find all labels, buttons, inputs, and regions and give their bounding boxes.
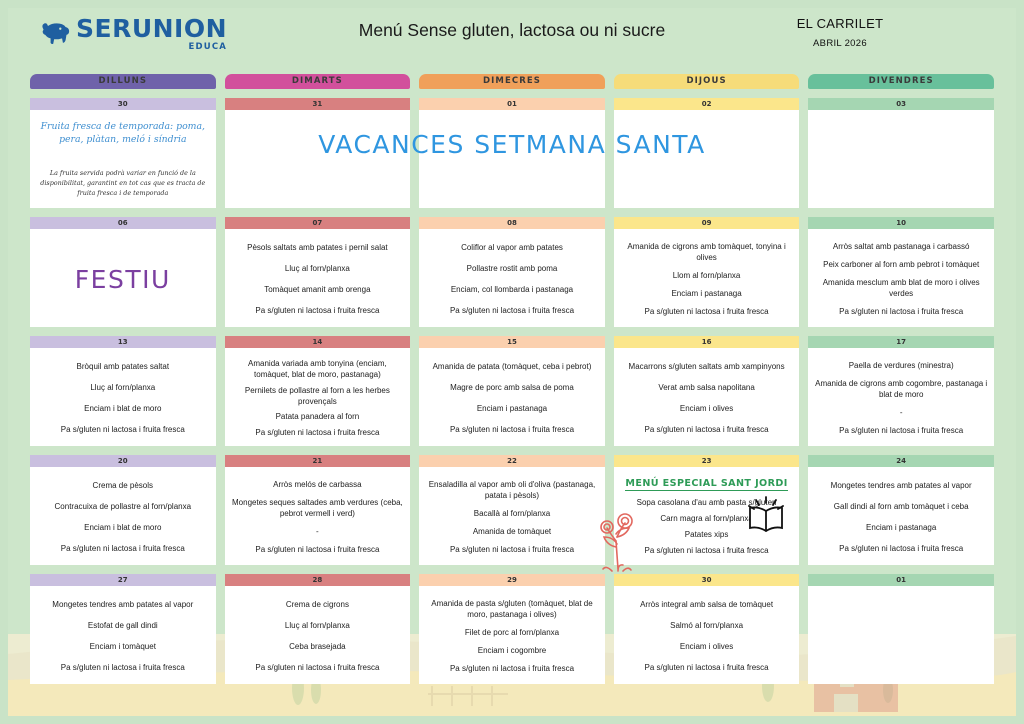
- menu-line: Lluç al forn/planxa: [36, 382, 210, 393]
- menu-line: Amanida variada amb tonyina (enciam, tom…: [231, 358, 405, 380]
- date-band-22: 22: [419, 455, 605, 467]
- weekday-header-dimarts: DIMARTS: [225, 74, 411, 89]
- fruit-note-detail: La fruita servida podrà variar en funció…: [36, 168, 210, 198]
- date-band-01: 01: [808, 574, 994, 586]
- menu-line: Pa s/gluten ni lactosa i fruita fresca: [36, 424, 210, 435]
- week-row: 13Bròquil amb patates saltatLluç al forn…: [30, 335, 994, 446]
- menu-line: Bacallà al forn/planxa: [425, 508, 599, 519]
- weekday-header-divendres: DIVENDRES: [808, 74, 994, 89]
- day-cell-06[interactable]: FESTIU: [30, 229, 216, 327]
- day-cell-20[interactable]: Crema de pèsolsContracuixa de pollastre …: [30, 467, 216, 565]
- date-band-06: 06: [30, 217, 216, 229]
- holiday-label: FESTIU: [36, 265, 210, 294]
- menu-line: Macarrons s/gluten saltats amb xampinyon…: [620, 361, 794, 372]
- menu-line: Gall dindi al forn amb tomàquet i ceba: [814, 501, 988, 512]
- menu-line: Pa s/gluten ni lactosa i fruita fresca: [814, 306, 988, 317]
- menu-line: Filet de porc al forn/planxa: [425, 627, 599, 638]
- date-band-17: 17: [808, 336, 994, 348]
- date-band-30: 30: [30, 98, 216, 110]
- day-cell-15[interactable]: Amanida de patata (tomàquet, ceba i pebr…: [419, 348, 605, 446]
- menu-line: Pernilets de pollastre al forn a les her…: [231, 385, 405, 407]
- day-cell-30[interactable]: Fruita fresca de temporada: poma, pera, …: [30, 110, 216, 208]
- menu-line: Tomàquet amanit amb orenga: [231, 284, 405, 295]
- special-menu-title: MENÚ ESPECIAL SANT JORDI: [625, 478, 787, 491]
- day-cell-16[interactable]: Macarrons s/gluten saltats amb xampinyon…: [614, 348, 800, 446]
- menu-line: Verat amb salsa napolitana: [620, 382, 794, 393]
- menu-line: Enciam, col llombarda i pastanaga: [425, 284, 599, 295]
- day-cell-22[interactable]: Ensaladilla al vapor amb oli d'oliva (pa…: [419, 467, 605, 565]
- menu-line: Ceba brasejada: [231, 641, 405, 652]
- menu-line: Pa s/gluten ni lactosa i fruita fresca: [231, 662, 405, 673]
- menu-line: Coliflor al vapor amb patates: [425, 242, 599, 253]
- menu-line: Pollastre rostit amb poma: [425, 263, 599, 274]
- date-band-27: 27: [30, 574, 216, 586]
- menu-line: Pa s/gluten ni lactosa i fruita fresca: [425, 544, 599, 555]
- menu-line: Pèsols saltats amb patates i pernil sala…: [231, 242, 405, 253]
- day-cell-21[interactable]: Arròs melós de carbassaMongetes seques s…: [225, 467, 411, 565]
- menu-line: Mongetes tendres amb patates al vapor: [814, 480, 988, 491]
- menu-line: Mongetes seques saltades amb verdures (c…: [231, 497, 405, 519]
- day-cell-10[interactable]: Arròs saltat amb pastanaga i carbassóPei…: [808, 229, 994, 327]
- poster-header: SERUNION EDUCA Menú Sense gluten, lactos…: [8, 8, 1016, 74]
- date-band-02: 02: [614, 98, 800, 110]
- day-cell-01[interactable]: [419, 110, 605, 208]
- week-row: 20Crema de pèsolsContracuixa de pollastr…: [30, 454, 994, 565]
- menu-line: Amanida de cigrons amb tomàquet, tonyina…: [620, 241, 794, 263]
- menu-line: -: [231, 526, 405, 537]
- menu-line: Crema de pèsols: [36, 480, 210, 491]
- date-band-16: 16: [614, 336, 800, 348]
- menu-line: Llom al forn/planxa: [620, 270, 794, 281]
- school-block: EL CARRILET ABRIL 2026: [730, 16, 950, 49]
- menu-line: Paella de verdures (minestra): [814, 360, 988, 371]
- menu-line: Pa s/gluten ni lactosa i fruita fresca: [231, 427, 405, 438]
- date-band-13: 13: [30, 336, 216, 348]
- vacation-banner: VACANCES SETMANA SANTA: [238, 130, 786, 159]
- menu-line: Enciam i pastanaga: [620, 288, 794, 299]
- menu-line: Enciam i olives: [620, 641, 794, 652]
- menu-line: Pa s/gluten ni lactosa i fruita fresca: [814, 543, 988, 554]
- menu-line: Pa s/gluten ni lactosa i fruita fresca: [620, 662, 794, 673]
- day-cell-09[interactable]: Amanida de cigrons amb tomàquet, tonyina…: [614, 229, 800, 327]
- fruit-note-main: Fruita fresca de temporada: poma, pera, …: [36, 120, 210, 146]
- weekday-header-dimecres: DIMECRES: [419, 74, 605, 89]
- menu-line: Enciam i olives: [620, 403, 794, 414]
- menu-line: Estofat de gall dindi: [36, 620, 210, 631]
- date-band-21: 21: [225, 455, 411, 467]
- date-band-10: 10: [808, 217, 994, 229]
- menu-line: Mongetes tendres amb patates al vapor: [36, 599, 210, 610]
- week-row: 06FESTIU07Pèsols saltats amb patates i p…: [30, 216, 994, 327]
- menu-line: Lluç al forn/planxa: [231, 263, 405, 274]
- date-band-07: 07: [225, 217, 411, 229]
- menu-line: Bròquil amb patates saltat: [36, 361, 210, 372]
- date-band-03: 03: [808, 98, 994, 110]
- date-band-15: 15: [419, 336, 605, 348]
- menu-poster: SERUNION EDUCA Menú Sense gluten, lactos…: [0, 0, 1024, 724]
- weekday-header-dijous: DIJOUS: [614, 74, 800, 89]
- school-name: EL CARRILET: [730, 16, 950, 31]
- date-band-30: 30: [614, 574, 800, 586]
- menu-calendar: DILLUNSDIMARTSDIMECRESDIJOUSDIVENDRES 30…: [8, 74, 1016, 684]
- menu-line: Pa s/gluten ni lactosa i fruita fresca: [425, 663, 599, 674]
- day-cell-01[interactable]: [808, 586, 994, 684]
- day-cell-30[interactable]: Arròs integral amb salsa de tomàquetSalm…: [614, 586, 800, 684]
- menu-line: Amanida de cigrons amb cogombre, pastana…: [814, 378, 988, 400]
- day-cell-28[interactable]: Crema de cigronsLluç al forn/planxaCeba …: [225, 586, 411, 684]
- day-cell-03[interactable]: [808, 110, 994, 208]
- date-band-14: 14: [225, 336, 411, 348]
- book-icon: [743, 495, 789, 535]
- menu-line: Amanida de pasta s/gluten (tomàquet, bla…: [425, 598, 599, 620]
- date-band-20: 20: [30, 455, 216, 467]
- date-band-29: 29: [419, 574, 605, 586]
- menu-line: Pa s/gluten ni lactosa i fruita fresca: [620, 545, 794, 556]
- day-cell-14[interactable]: Amanida variada amb tonyina (enciam, tom…: [225, 348, 411, 446]
- menu-line: Pa s/gluten ni lactosa i fruita fresca: [425, 305, 599, 316]
- logo-subtitle: EDUCA: [188, 43, 227, 52]
- date-band-08: 08: [419, 217, 605, 229]
- menu-line: Patata panadera al forn: [231, 411, 405, 422]
- menu-line: Pa s/gluten ni lactosa i fruita fresca: [620, 424, 794, 435]
- menu-line: Amanida de tomàquet: [425, 526, 599, 537]
- date-band-31: 31: [225, 98, 411, 110]
- menu-line: Arròs integral amb salsa de tomàquet: [620, 599, 794, 610]
- menu-line: Pa s/gluten ni lactosa i fruita fresca: [36, 543, 210, 554]
- menu-line: Pa s/gluten ni lactosa i fruita fresca: [425, 424, 599, 435]
- weekday-header-row: DILLUNSDIMARTSDIMECRESDIJOUSDIVENDRES: [30, 74, 994, 89]
- menu-line: Crema de cigrons: [231, 599, 405, 610]
- menu-line: Amanida mesclum amb blat de moro i olive…: [814, 277, 988, 299]
- menu-line: Enciam i tomàquet: [36, 641, 210, 652]
- day-cell-31[interactable]: [225, 110, 411, 208]
- menu-period: ABRIL 2026: [730, 38, 950, 49]
- menu-line: Pa s/gluten ni lactosa i fruita fresca: [231, 544, 405, 555]
- day-cell-07[interactable]: Pèsols saltats amb patates i pernil sala…: [225, 229, 411, 327]
- day-cell-02[interactable]: [614, 110, 800, 208]
- menu-line: Ensaladilla al vapor amb oli d'oliva (pa…: [425, 479, 599, 501]
- menu-line: Peix carboner al forn amb pebrot i tomàq…: [814, 259, 988, 270]
- menu-line: Enciam i cogombre: [425, 645, 599, 656]
- menu-line: Arròs melós de carbassa: [231, 479, 405, 490]
- day-cell-29[interactable]: Amanida de pasta s/gluten (tomàquet, bla…: [419, 586, 605, 684]
- day-cell-24[interactable]: Mongetes tendres amb patates al vaporGal…: [808, 467, 994, 565]
- rose-icon: [592, 507, 644, 573]
- date-band-01: 01: [419, 98, 605, 110]
- menu-line: Enciam i blat de moro: [36, 403, 210, 414]
- menu-line: Pa s/gluten ni lactosa i fruita fresca: [620, 306, 794, 317]
- menu-line: Magre de porc amb salsa de poma: [425, 382, 599, 393]
- weeks-container: 30Fruita fresca de temporada: poma, pera…: [30, 89, 994, 684]
- date-band-24: 24: [808, 455, 994, 467]
- date-band-09: 09: [614, 217, 800, 229]
- day-cell-17[interactable]: Paella de verdures (minestra)Amanida de …: [808, 348, 994, 446]
- menu-line: Enciam i pastanaga: [425, 403, 599, 414]
- date-band-23: 23: [614, 455, 800, 467]
- menu-line: Contracuixa de pollastre al forn/planxa: [36, 501, 210, 512]
- menu-line: Arròs saltat amb pastanaga i carbassó: [814, 241, 988, 252]
- menu-line: Enciam i blat de moro: [36, 522, 210, 533]
- day-cell-13[interactable]: Bròquil amb patates saltatLluç al forn/p…: [30, 348, 216, 446]
- menu-line: Salmó al forn/planxa: [620, 620, 794, 631]
- menu-line: -: [814, 407, 988, 418]
- menu-line: Pa s/gluten ni lactosa i fruita fresca: [36, 662, 210, 673]
- menu-line: Enciam i pastanaga: [814, 522, 988, 533]
- menu-line: Pa s/gluten ni lactosa i fruita fresca: [814, 425, 988, 436]
- menu-line: Amanida de patata (tomàquet, ceba i pebr…: [425, 361, 599, 372]
- day-cell-27[interactable]: Mongetes tendres amb patates al vaporEst…: [30, 586, 216, 684]
- date-band-28: 28: [225, 574, 411, 586]
- menu-line: Lluç al forn/planxa: [231, 620, 405, 631]
- day-cell-08[interactable]: Coliflor al vapor amb patatesPollastre r…: [419, 229, 605, 327]
- menu-line: Pa s/gluten ni lactosa i fruita fresca: [231, 305, 405, 316]
- weekday-header-dilluns: DILLUNS: [30, 74, 216, 89]
- week-row: 27Mongetes tendres amb patates al vaporE…: [30, 573, 994, 684]
